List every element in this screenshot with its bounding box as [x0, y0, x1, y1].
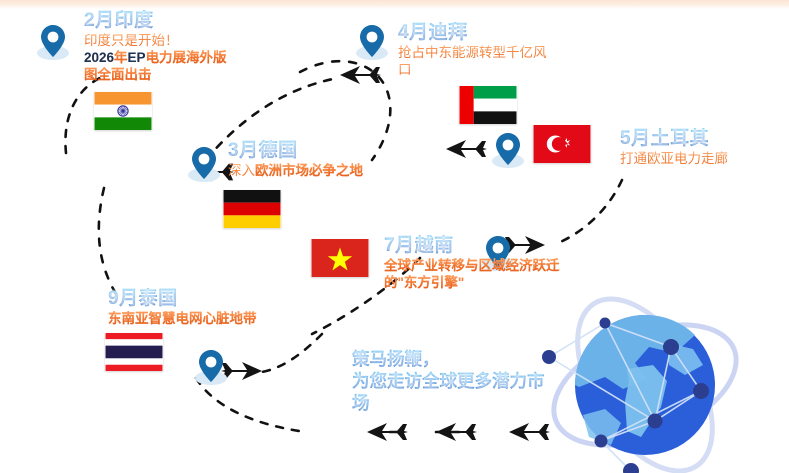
airplane-icon	[509, 423, 550, 441]
map-pin-icon-thailand	[190, 345, 232, 387]
stop-subtitle-india-line2: 2026年EP电力展海外版	[84, 49, 284, 66]
stop-block-dubai: 4月迪拜 抢占中东能源转型千亿风 口	[398, 22, 563, 78]
subtitle-run: 图全面出击	[84, 67, 152, 82]
stop-block-india: 2月印度 印度只是开始！ 2026年EP电力展海外版 图全面出击	[84, 10, 284, 83]
map-pin-icon-india	[32, 20, 74, 62]
stop-title-thailand: 9月泰国	[108, 288, 308, 310]
subtitle-run: 电力展海外版	[146, 50, 227, 65]
subtitle-run: 年	[114, 50, 128, 65]
airplane-icon	[446, 140, 487, 158]
subtitle-run: 的"东方引擎"	[384, 275, 464, 290]
subtitle-run: 印度只是开始！	[84, 33, 179, 48]
stop-subtitle-india-line3: 图全面出击	[84, 66, 284, 83]
closing-line-2: 为您走访全球更多潜力市	[352, 370, 582, 392]
stop-title-vietnam: 7月越南	[384, 235, 589, 257]
subtitle-run: 深入	[228, 163, 255, 178]
subtitle-run-year: 2026	[84, 50, 114, 65]
stop-title-india: 2月印度	[84, 10, 284, 32]
subtitle-run: 欧洲市场必争之地	[255, 163, 363, 178]
subtitle-run: 口	[398, 62, 412, 77]
stop-block-thailand: 9月泰国 东南亚智慧电网心脏地带	[108, 288, 308, 327]
map-pin-icon-germany	[183, 142, 225, 184]
stop-subtitle-vietnam-line2: 的"东方引擎"	[384, 274, 589, 291]
stop-title-germany: 3月德国	[228, 140, 418, 162]
subtitle-run: 全球产业转移与区域经济跃迁	[384, 258, 560, 273]
stop-subtitle-dubai-line1: 抢占中东能源转型千亿风	[398, 44, 563, 61]
stop-subtitle-turkey: 打通欧亚电力走廊	[620, 150, 785, 167]
subtitle-run: 抢占中东能源转型千亿风	[398, 45, 547, 60]
stop-subtitle-dubai-line2: 口	[398, 61, 563, 78]
stop-subtitle-vietnam-line1: 全球产业转移与区域经济跃迁	[384, 257, 589, 274]
stop-subtitle-germany: 深入欧洲市场必争之地	[228, 162, 418, 179]
subtitle-run: 打通欧亚电力走廊	[620, 151, 728, 166]
airplane-icon	[340, 66, 381, 84]
stop-title-dubai: 4月迪拜	[398, 22, 563, 44]
flag-india	[94, 92, 152, 130]
map-pin-icon-dubai	[351, 20, 393, 62]
stop-block-turkey: 5月土耳其 打通欧亚电力走廊	[620, 128, 785, 167]
flag-thailand	[105, 333, 163, 371]
path-india-down	[99, 188, 120, 300]
flag-turkey	[533, 125, 591, 163]
airplane-icon	[367, 423, 408, 441]
stop-title-turkey: 5月土耳其	[620, 128, 785, 150]
subtitle-run: 东南亚智慧电网心脏地带	[108, 311, 257, 326]
infographic-canvas: 2月印度 印度只是开始！ 2026年EP电力展海外版 图全面出击 3月德国 深入…	[0, 0, 789, 473]
map-pin-icon-turkey	[487, 128, 529, 170]
stop-subtitle-india-line1: 印度只是开始！	[84, 32, 284, 49]
stop-block-vietnam: 7月越南 全球产业转移与区域经济跃迁 的"东方引擎"	[384, 235, 589, 291]
closing-line-3: 场	[352, 392, 582, 414]
flag-vietnam	[311, 239, 369, 277]
closing-line-1: 策马扬鞭，	[352, 348, 582, 370]
closing-statement: 策马扬鞭， 为您走访全球更多潜力市 场	[352, 348, 582, 414]
stop-block-germany: 3月德国 深入欧洲市场必争之地	[228, 140, 418, 179]
subtitle-run-ep: EP	[128, 50, 146, 65]
path-to-thailand-plane	[262, 334, 322, 372]
flag-germany	[223, 190, 281, 228]
stop-subtitle-thailand: 东南亚智慧电网心脏地带	[108, 310, 308, 327]
flag-uae	[459, 86, 517, 124]
airplane-icon	[436, 423, 477, 441]
